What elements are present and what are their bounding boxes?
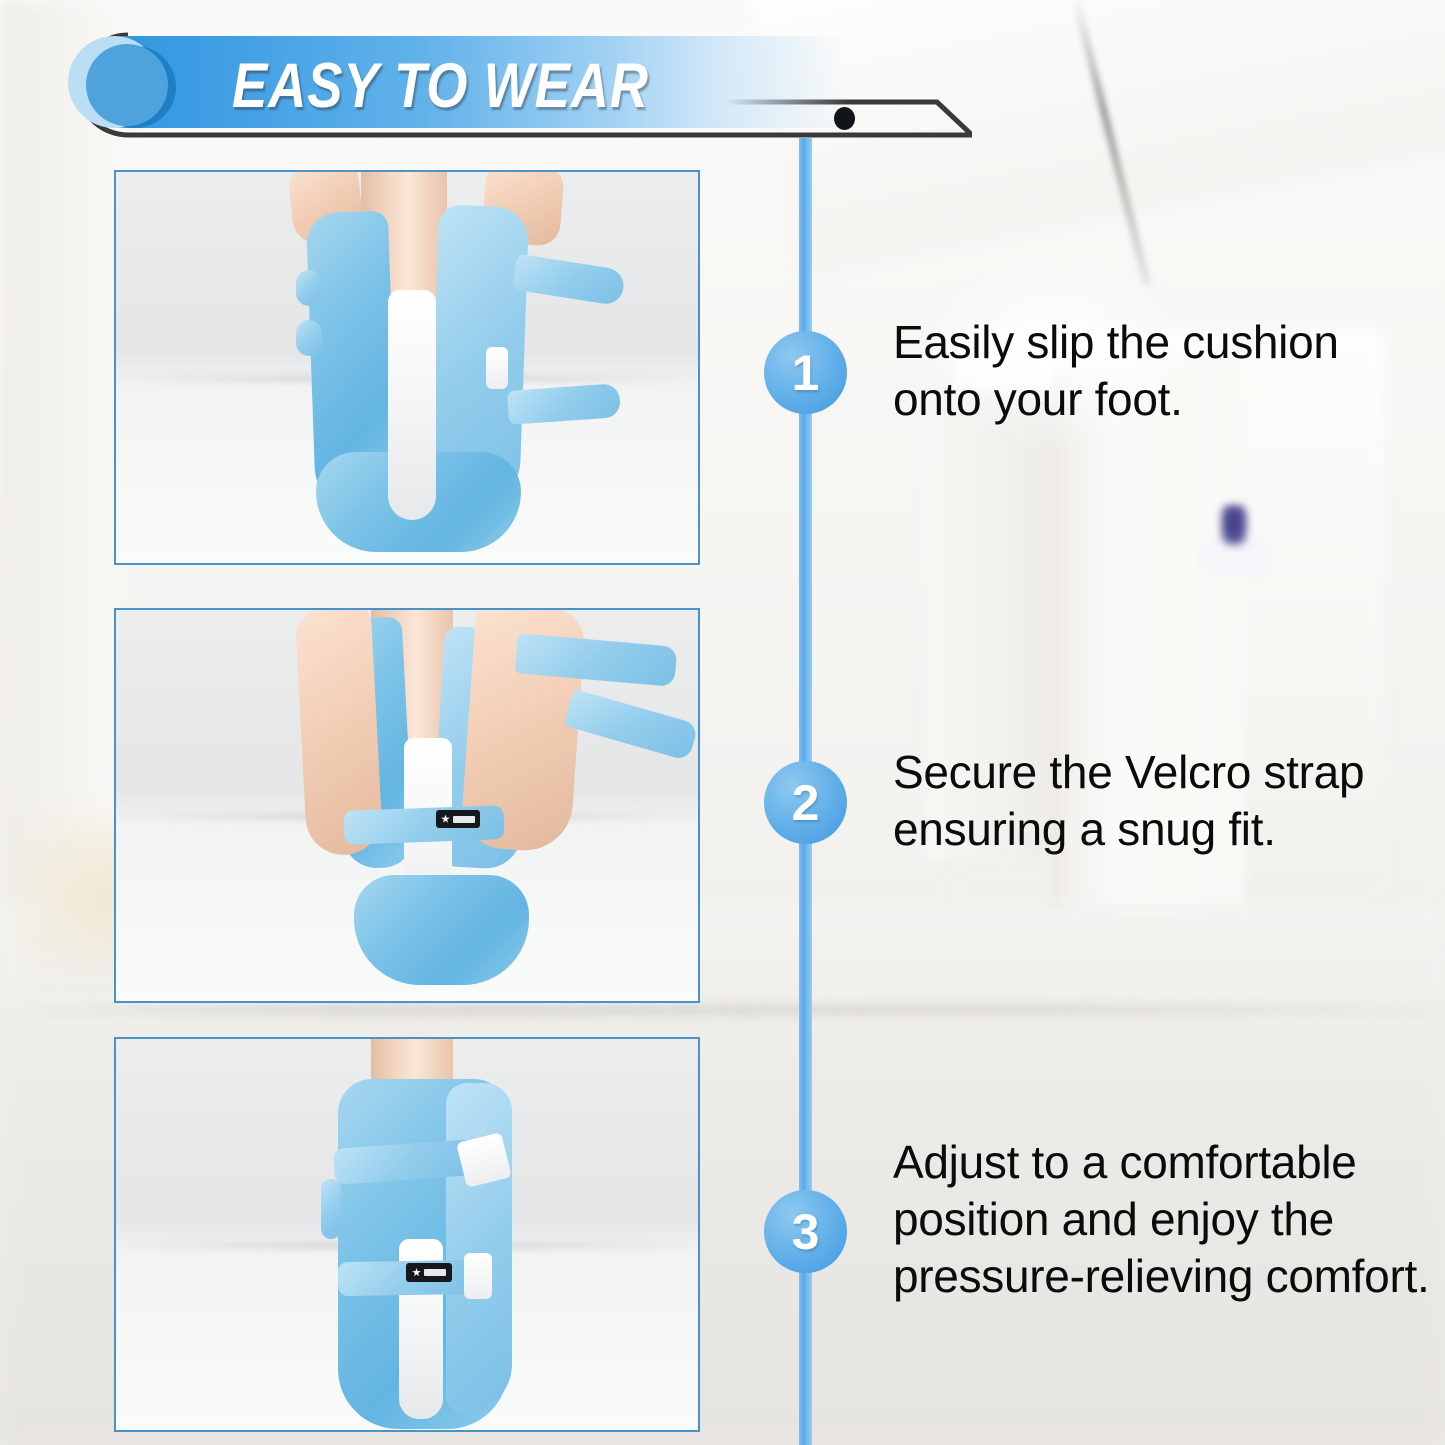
background-sign-plate <box>1203 540 1265 574</box>
step-number-badge-3: 3 <box>764 1190 847 1273</box>
step-number-badge-1: 1 <box>764 331 847 414</box>
step-description-2: Secure the Velcro strap ensuring a snug … <box>893 744 1438 858</box>
step-description-3: Adjust to a comfortable position and enj… <box>893 1134 1438 1305</box>
brand-wordmark <box>453 816 475 823</box>
photo1-sock <box>388 290 436 520</box>
background-wall-sign <box>1221 505 1247 545</box>
star-icon <box>412 1268 421 1277</box>
photo3-velcro-lower <box>464 1253 492 1299</box>
photo2-cushion-sole <box>354 875 529 985</box>
photo3-boot-right-panel <box>446 1083 512 1413</box>
step-description-1: Easily slip the cushion onto your foot. <box>893 314 1438 428</box>
photo3-brand-label <box>406 1263 452 1282</box>
banner-dot-marker <box>834 107 855 130</box>
photo3-side-loop <box>321 1179 341 1239</box>
photo2-strap-main <box>343 805 504 845</box>
header-banner: EASY TO WEAR <box>32 30 972 142</box>
step-photo-3 <box>114 1037 700 1432</box>
photo1-velcro-patch <box>486 347 508 389</box>
photo2-brand-label <box>436 810 480 828</box>
star-icon <box>441 815 450 824</box>
step-number-badge-2: 2 <box>764 761 847 844</box>
step-photo-1 <box>114 170 700 565</box>
step-photo-2 <box>114 608 700 1003</box>
banner-circle-icon <box>86 44 168 126</box>
banner-title: EASY TO WEAR <box>232 46 649 126</box>
photo1-side-tab-upper <box>296 270 322 306</box>
background-floor-line <box>0 1005 1445 1015</box>
brand-wordmark <box>424 1269 446 1276</box>
photo1-side-tab-lower <box>296 320 322 356</box>
